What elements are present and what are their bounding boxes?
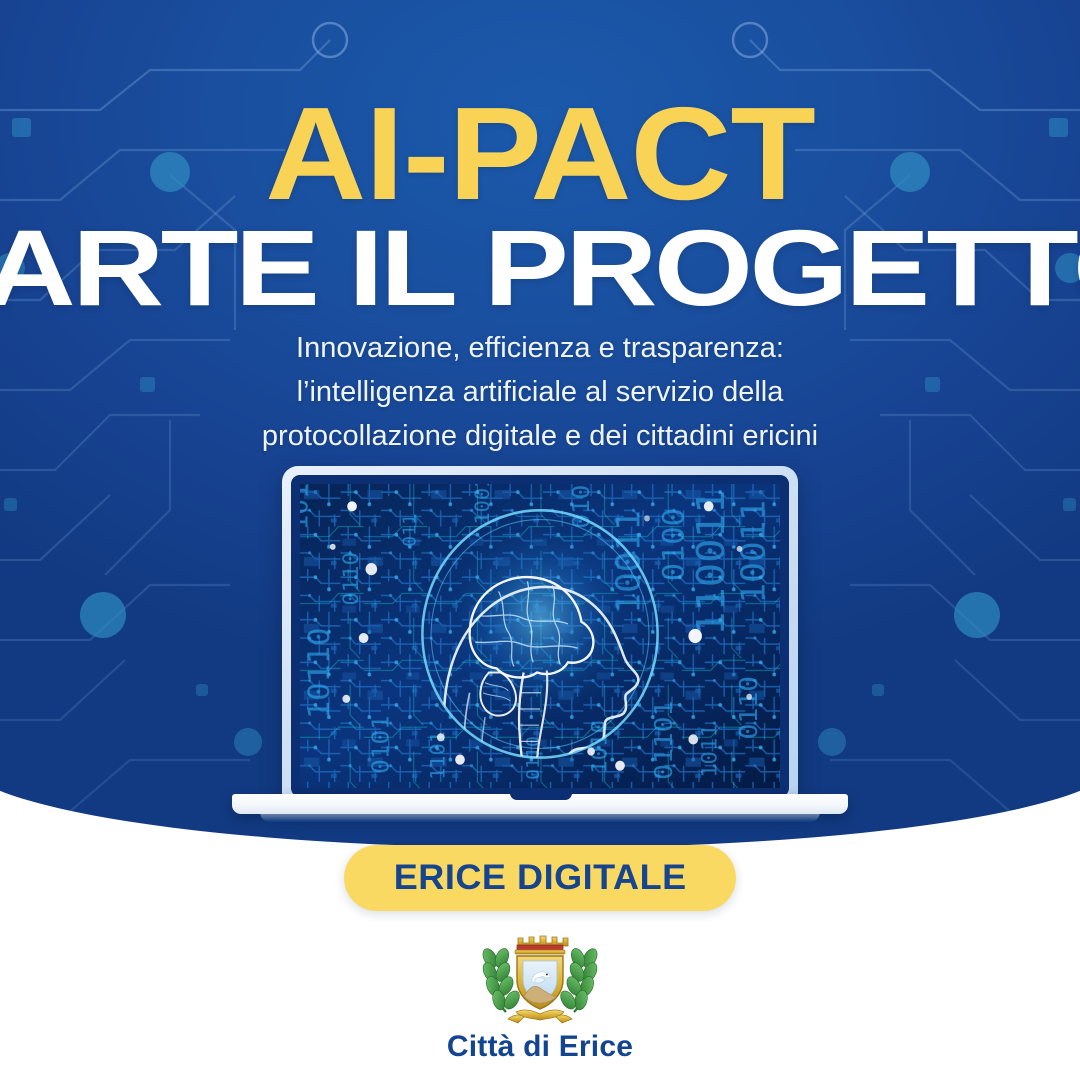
svg-text:0110: 0110 [734, 676, 763, 739]
svg-text:01101: 01101 [650, 701, 679, 780]
svg-text:1011: 1011 [698, 724, 722, 778]
city-name-label: Città di Erice [0, 1030, 1080, 1064]
page-title-primary: AI-PACT [0, 88, 1080, 220]
city-crest-icon [468, 924, 612, 1028]
page-title-secondary: PARTE IL PROGETTO [0, 214, 1080, 322]
tagline-line-1: Innovazione, efficienza e trasparenza: [140, 326, 940, 370]
coat-of-arms-icon [468, 924, 612, 1028]
tagline-line-3: protocollazione digitale e dei cittadini… [140, 414, 940, 458]
tagline-line-2: l’intelligenza artificiale al servizio d… [140, 370, 940, 414]
svg-text:0100: 0100 [656, 508, 690, 581]
svg-text:110011: 110011 [689, 490, 734, 636]
svg-text:0101: 0101 [367, 715, 394, 774]
status-badge-label: ERICE DIGITALE [394, 858, 687, 898]
svg-text:10110: 10110 [302, 628, 336, 719]
laptop-hinge-notch [510, 790, 572, 800]
poster-canvas: AI-PACT PARTE IL PROGETTO Innovazione, e… [0, 0, 1080, 1080]
laptop-lid: 1010 0110 10110 0101 1101 011 1001 0101 … [282, 466, 798, 806]
laptop-bezel: 1010 0110 10110 0101 1101 011 1001 0101 … [291, 475, 789, 797]
laptop-illustration: 1010 0110 10110 0101 1101 011 1001 0101 … [232, 466, 848, 822]
ai-brain-circuit-icon: 1010 0110 10110 0101 1101 011 1001 0101 … [300, 484, 780, 788]
svg-text:0110: 0110 [339, 552, 363, 606]
svg-text:1010: 1010 [300, 484, 315, 531]
status-badge: ERICE DIGITALE [344, 845, 736, 911]
tagline: Innovazione, efficienza e trasparenza: l… [140, 326, 940, 458]
laptop-screen: 1010 0110 10110 0101 1101 011 1001 0101 … [300, 484, 780, 788]
svg-text:011: 011 [400, 514, 420, 547]
